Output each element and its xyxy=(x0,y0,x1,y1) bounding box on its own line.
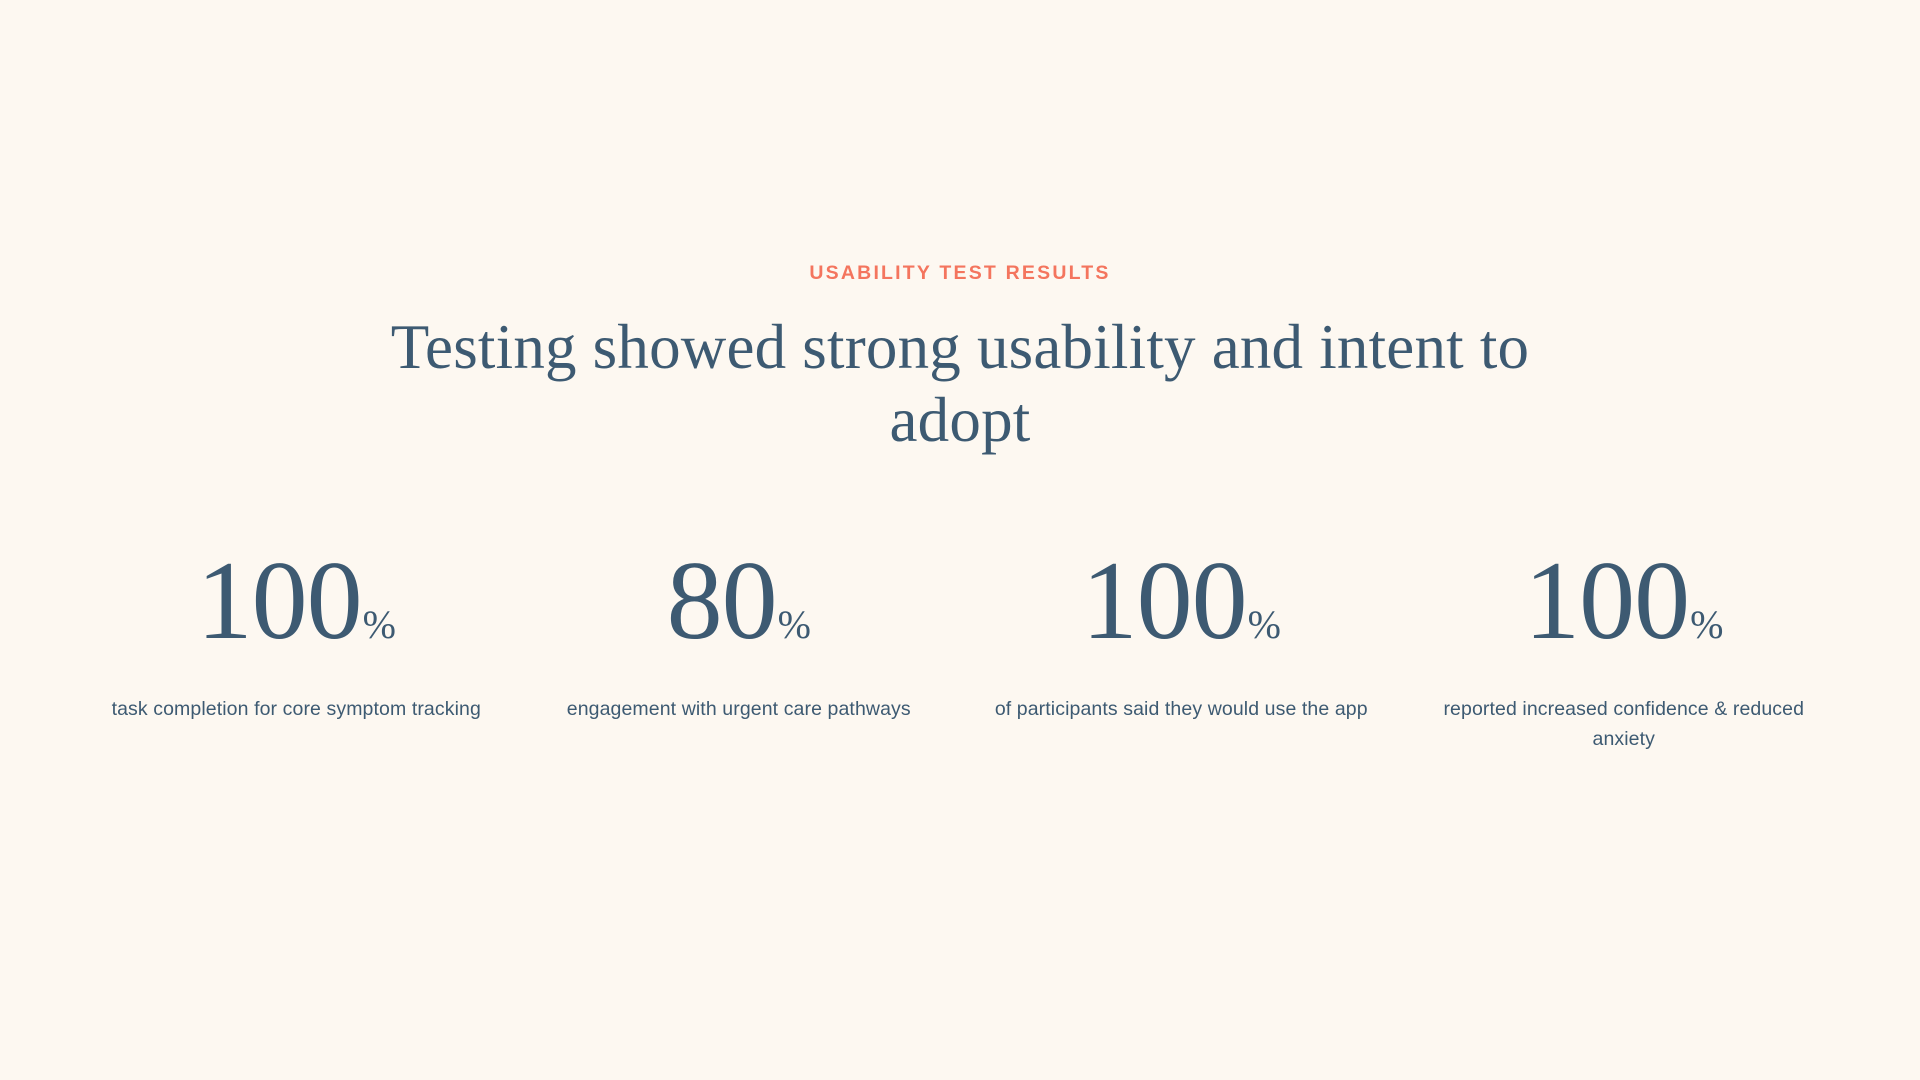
eyebrow-label: USABILITY TEST RESULTS xyxy=(0,262,1920,285)
stat-figure: 80% xyxy=(518,545,961,663)
slide-header: USABILITY TEST RESULTS Testing showed st… xyxy=(0,262,1920,458)
stat-caption: engagement with urgent care pathways xyxy=(518,695,961,725)
stat-value: 100 xyxy=(197,539,362,663)
stat-card-engagement: 80% engagement with urgent care pathways xyxy=(518,545,961,725)
stat-caption: task completion for core symptom trackin… xyxy=(75,695,518,725)
stat-value: 100 xyxy=(1524,539,1689,663)
stat-unit: % xyxy=(363,602,396,647)
stats-row: 100% task completion for core symptom tr… xyxy=(75,545,1845,754)
stat-unit: % xyxy=(1248,602,1281,647)
stat-card-intent-to-use: 100% of participants said they would use… xyxy=(960,545,1403,725)
stat-caption: of participants said they would use the … xyxy=(960,695,1403,725)
stat-value: 100 xyxy=(1082,539,1247,663)
stat-caption: reported increased confidence & reduced … xyxy=(1403,695,1846,754)
stat-card-confidence: 100% reported increased confidence & red… xyxy=(1403,545,1846,754)
stat-card-task-completion: 100% task completion for core symptom tr… xyxy=(75,545,518,725)
stat-unit: % xyxy=(1690,602,1723,647)
stat-value: 80 xyxy=(667,539,777,663)
stat-unit: % xyxy=(778,602,811,647)
page-title: Testing showed strong usability and inte… xyxy=(380,311,1540,457)
stat-figure: 100% xyxy=(960,545,1403,663)
usability-results-slide: USABILITY TEST RESULTS Testing showed st… xyxy=(0,0,1920,1080)
stat-figure: 100% xyxy=(1403,545,1846,663)
stat-figure: 100% xyxy=(75,545,518,663)
